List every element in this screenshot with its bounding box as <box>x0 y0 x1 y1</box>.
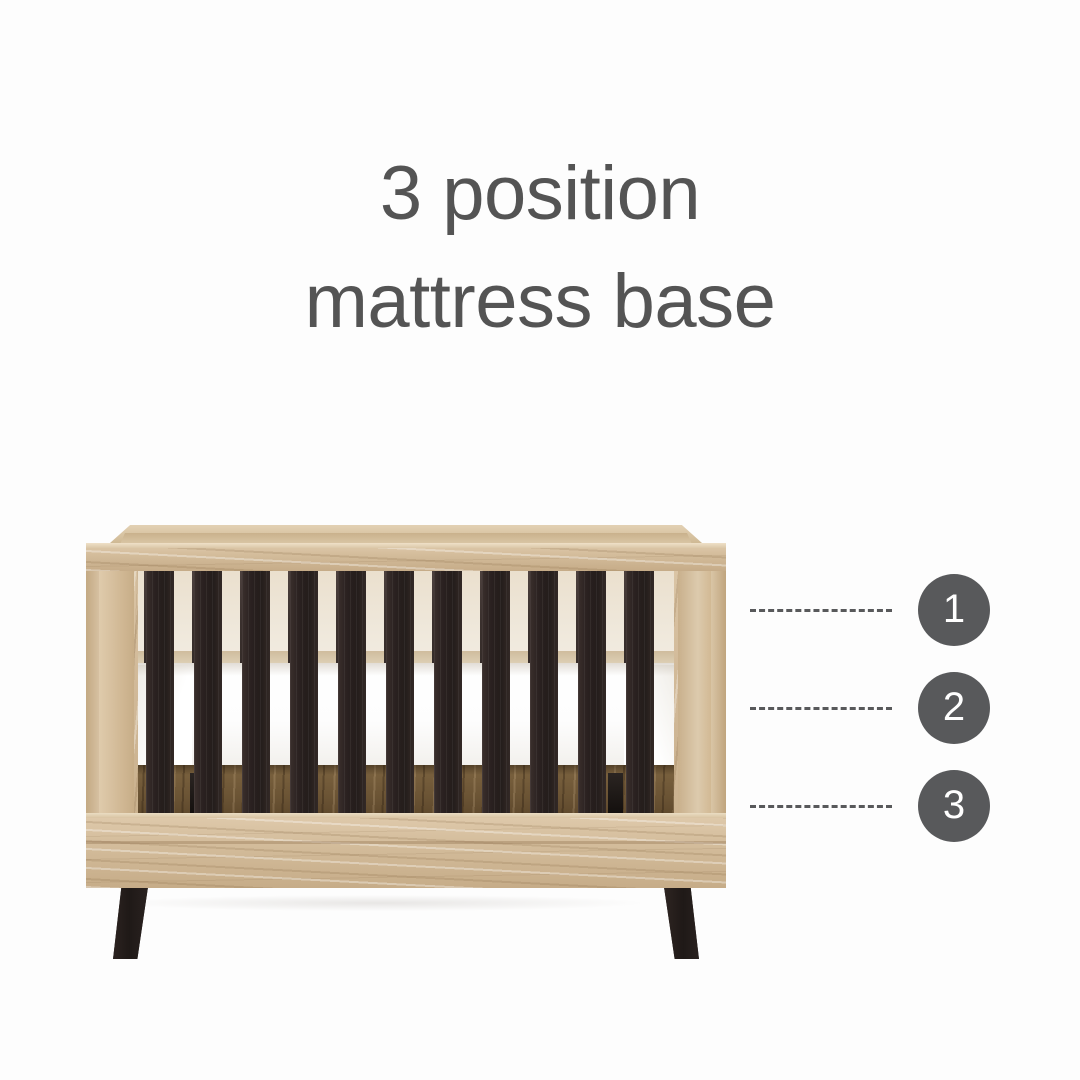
front-slat <box>626 569 654 827</box>
front-slat <box>578 569 606 827</box>
cot-top-rail-lip <box>86 543 726 548</box>
title-line-2: mattress base <box>0 248 1080 356</box>
callout-dashed-line <box>750 707 892 710</box>
cot-bed-illustration <box>86 525 726 925</box>
infographic-canvas: 3 position mattress base <box>0 0 1080 1080</box>
front-slat <box>146 569 174 827</box>
front-slat <box>194 569 222 827</box>
floor-shadow <box>120 895 640 911</box>
cot-bottom-rail-groove <box>86 841 726 844</box>
callout-3: 3 <box>750 770 990 842</box>
cot-post-left-panel <box>99 551 134 821</box>
base-bracket <box>608 773 623 813</box>
cot-leg-left <box>110 887 148 959</box>
front-slat <box>482 569 510 827</box>
cot-bottom-rail <box>86 813 726 888</box>
cot-leg-right <box>664 887 702 959</box>
cot-post-right-panel <box>678 551 711 821</box>
front-slat <box>434 569 462 827</box>
front-slat <box>242 569 270 827</box>
cot-post-right-edge <box>711 543 726 828</box>
front-slat <box>530 569 558 827</box>
cot-post-left-edge <box>86 543 99 828</box>
callout-dashed-line <box>750 609 892 612</box>
front-slat <box>386 569 414 827</box>
callout-dashed-line <box>750 805 892 808</box>
callout-1: 1 <box>750 574 990 646</box>
position-badge-3[interactable]: 3 <box>918 770 990 842</box>
cot-bottom-rail-lip <box>86 813 726 818</box>
title-line-1: 3 position <box>0 140 1080 248</box>
callout-2: 2 <box>750 672 990 744</box>
position-badge-1[interactable]: 1 <box>918 574 990 646</box>
front-slat <box>338 569 366 827</box>
position-badge-2[interactable]: 2 <box>918 672 990 744</box>
page-title: 3 position mattress base <box>0 140 1080 356</box>
front-slat <box>290 569 318 827</box>
